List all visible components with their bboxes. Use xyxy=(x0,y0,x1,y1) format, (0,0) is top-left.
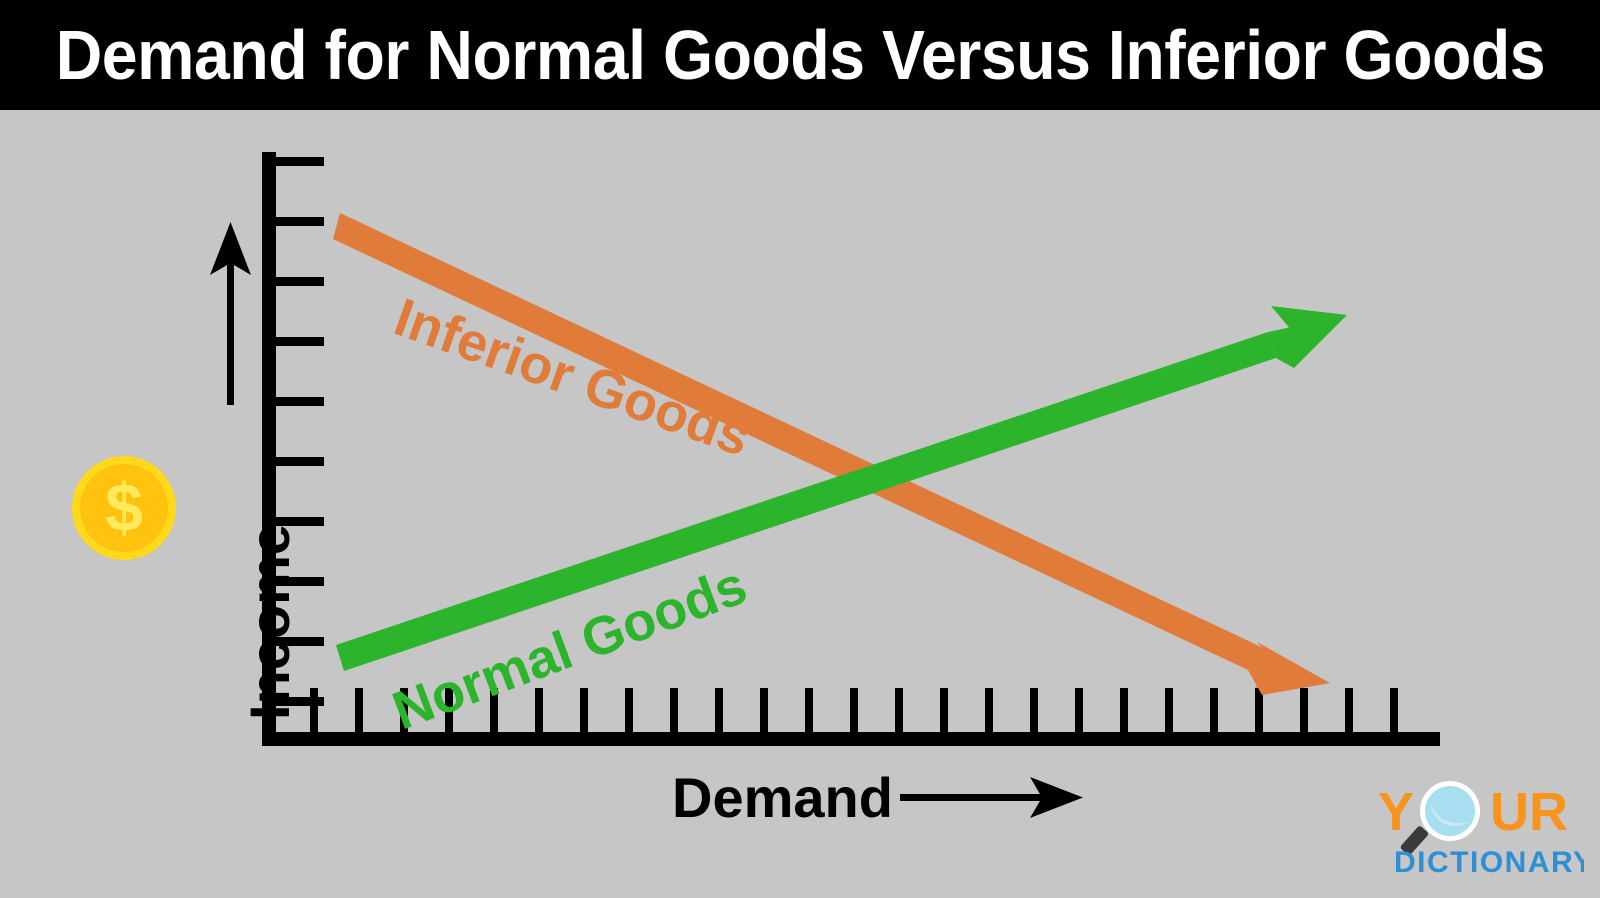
x-axis-line xyxy=(262,732,1440,746)
title-bar: Demand for Normal Goods Versus Inferior … xyxy=(0,0,1600,110)
logo-letters-ur: UR xyxy=(1490,782,1568,842)
income-up-arrow-icon xyxy=(210,222,251,405)
demand-right-arrow-icon xyxy=(900,777,1083,818)
coin-dollar-symbol: $ xyxy=(105,470,143,546)
y-axis-label: Income xyxy=(240,420,300,720)
logo-word-dictionary: DICTIONARY xyxy=(1394,846,1584,879)
dollar-coin-icon: $ xyxy=(70,454,178,562)
yourdictionary-logo: Y UR DICTIONARY xyxy=(1368,778,1584,880)
chart-area: Income Demand Inferior Goods Normal Good… xyxy=(0,110,1600,898)
infographic-page: Demand for Normal Goods Versus Inferior … xyxy=(0,0,1600,898)
logo-letter-y: Y xyxy=(1378,782,1414,842)
magnifier-lens-icon xyxy=(1420,781,1480,841)
x-axis-label: Demand xyxy=(672,768,893,828)
page-title: Demand for Normal Goods Versus Inferior … xyxy=(55,20,1544,90)
